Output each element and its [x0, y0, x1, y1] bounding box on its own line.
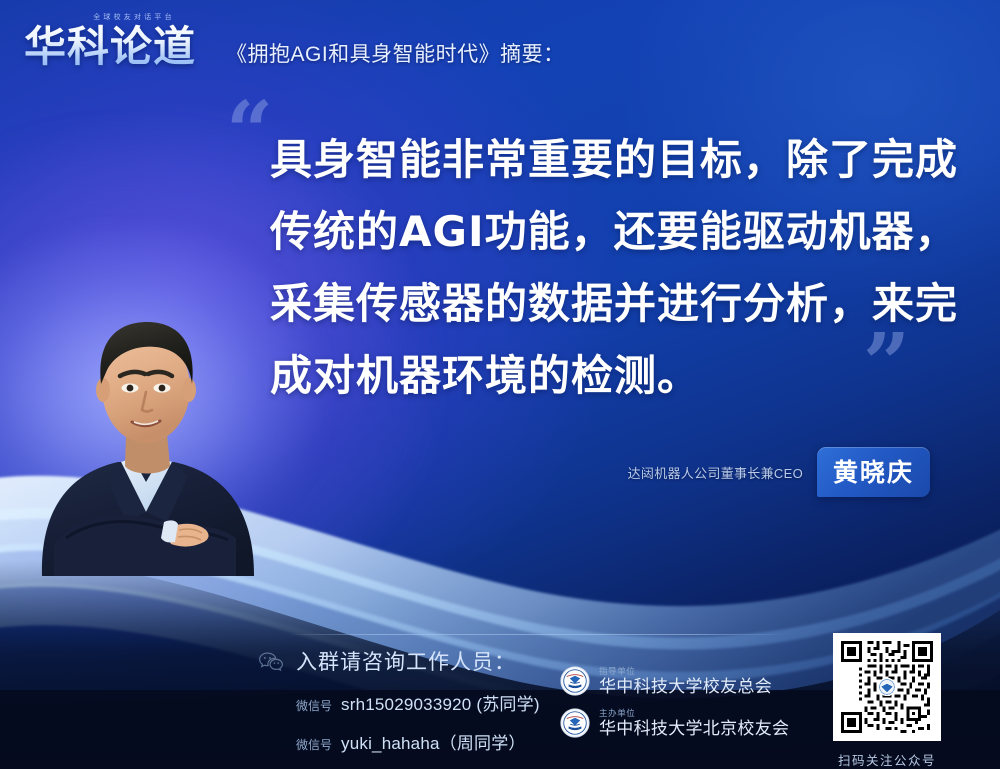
- organizations: 指导单位 华中科技大学校友总会 主办单位 华中科技大学北京校友会: [560, 666, 789, 750]
- organization-name: 华中科技大学北京校友会: [599, 720, 789, 738]
- university-seal-icon: [560, 666, 590, 696]
- contact-header: 入群请咨询工作人员：: [258, 646, 540, 676]
- organization-texts: 指导单位 华中科技大学校友总会: [599, 667, 772, 696]
- quote-close-mark: ”: [863, 334, 910, 394]
- footer-divider: [286, 634, 786, 635]
- qr-caption: 扫码关注公众号: [833, 750, 941, 769]
- wechat-id[interactable]: srh15029033920 (苏同学): [341, 690, 540, 715]
- brand-name: 华科论道: [24, 21, 220, 73]
- organization-row: 指导单位 华中科技大学校友总会: [560, 666, 789, 696]
- qr-code[interactable]: [833, 633, 941, 741]
- organization-kind: 指导单位: [599, 667, 772, 676]
- brand-logo[interactable]: 全球校友对话平台 华科论道: [24, 12, 220, 76]
- wechat-label: 微信号: [296, 736, 332, 753]
- qr-code-icon: [838, 638, 936, 736]
- organization-texts: 主办单位 华中科技大学北京校友会: [599, 709, 789, 738]
- qr-section: 扫码关注公众号: [833, 633, 941, 769]
- wechat-id[interactable]: yuki_hahaha（周同学）: [341, 729, 526, 754]
- quote-block: “ 具身智能非常重要的目标，除了完成传统的AGI功能，还要能驱动机器，采集传感器…: [222, 96, 962, 412]
- organization-kind: 主办单位: [599, 709, 789, 718]
- university-seal-icon: [560, 708, 590, 738]
- contact-title: 入群请咨询工作人员：: [296, 646, 516, 676]
- wechat-icon: [258, 651, 284, 671]
- attribution: 达闼机器人公司董事长兼CEO 黄晓庆: [628, 447, 930, 497]
- header: 全球校友对话平台 华科论道 《拥抱AGI和具身智能时代》摘要：: [0, 0, 1000, 96]
- poster-root: 全球校友对话平台 华科论道 《拥抱AGI和具身智能时代》摘要：: [0, 0, 1000, 769]
- speaker-name-badge: 黄晓庆: [817, 447, 930, 497]
- wechat-label: 微信号: [296, 697, 332, 714]
- speaker-role: 达闼机器人公司董事长兼CEO: [628, 463, 803, 482]
- wechat-contact-row: 微信号 srh15029033920 (苏同学): [296, 690, 540, 715]
- quote-text: 具身智能非常重要的目标，除了完成传统的AGI功能，还要能驱动机器，采集传感器的数…: [222, 96, 962, 412]
- organization-row: 主办单位 华中科技大学北京校友会: [560, 708, 789, 738]
- organization-name: 华中科技大学校友总会: [599, 678, 772, 696]
- contact-section: 入群请咨询工作人员： 微信号 srh15029033920 (苏同学) 微信号 …: [258, 646, 540, 754]
- wechat-contact-row: 微信号 yuki_hahaha（周同学）: [296, 729, 540, 754]
- page-title: 《拥抱AGI和具身智能时代》摘要：: [226, 38, 565, 68]
